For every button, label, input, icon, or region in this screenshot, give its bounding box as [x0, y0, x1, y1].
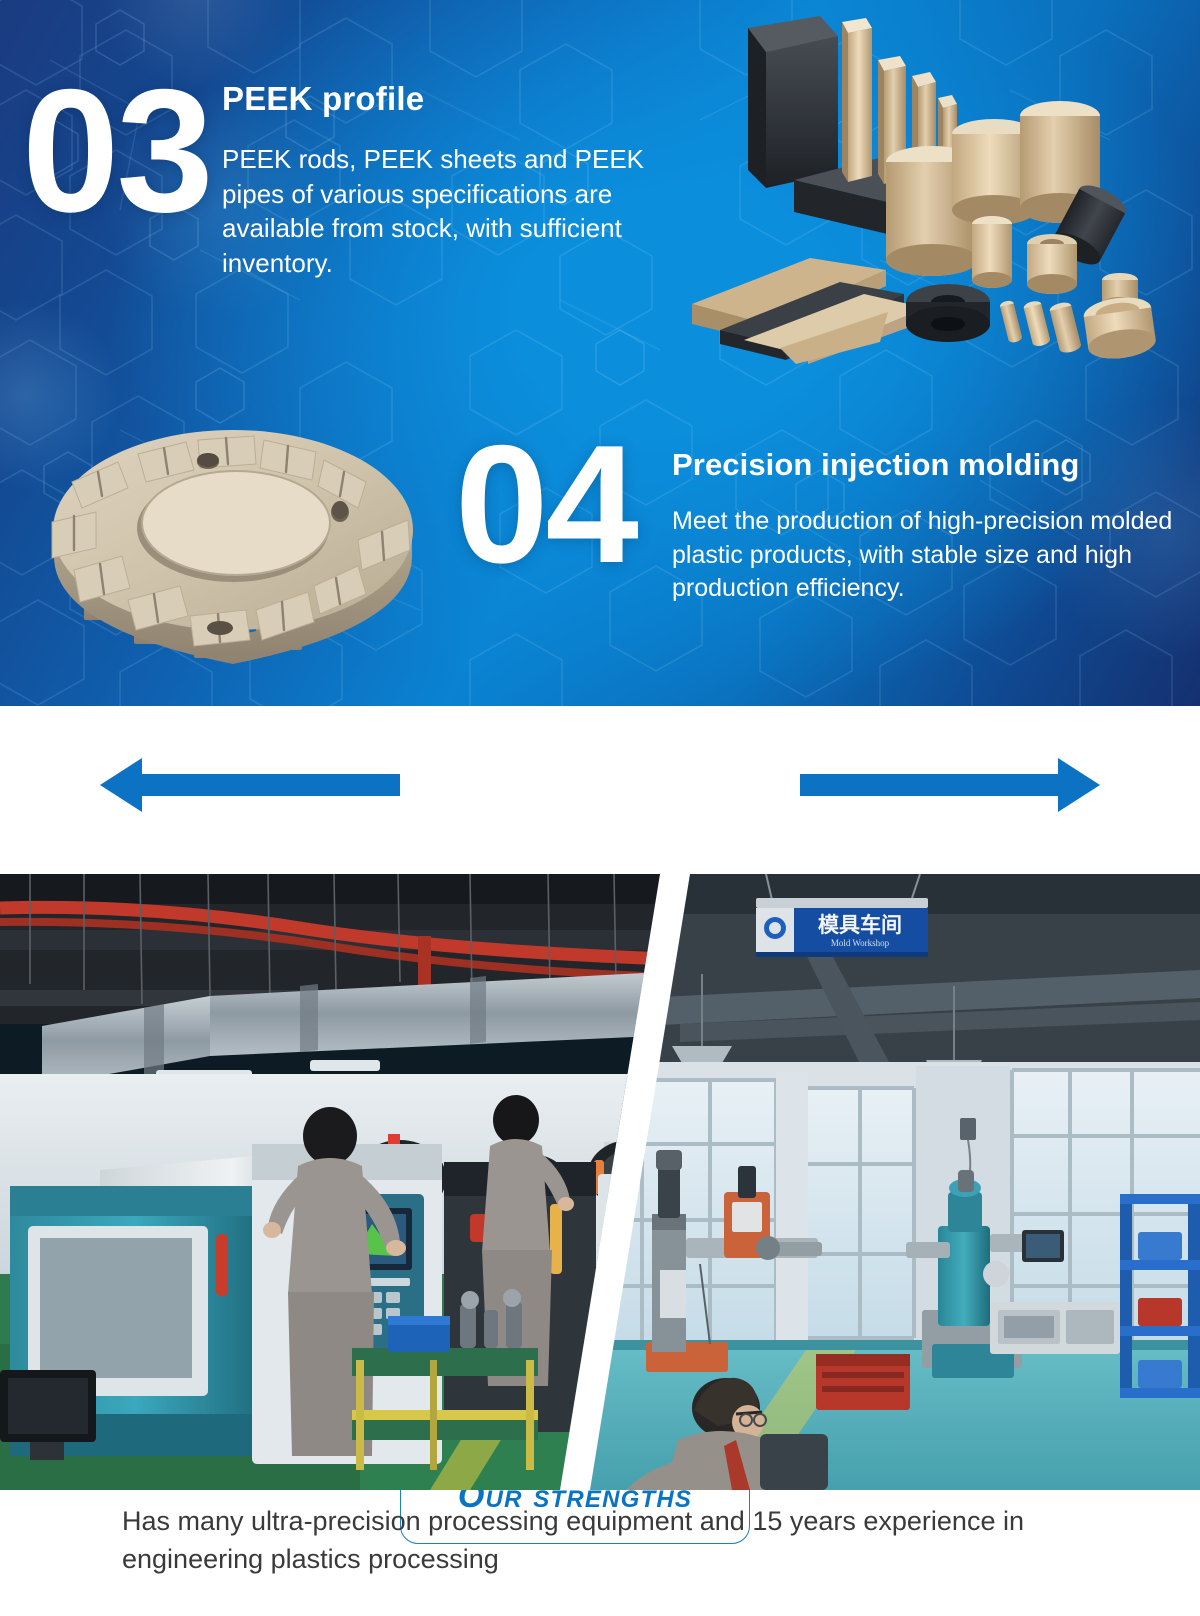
peek-gear-ring-photo: [18, 390, 448, 690]
block-body-04: Meet the production of high-precision mo…: [672, 505, 1192, 606]
block-number-03: 03: [22, 80, 211, 224]
bottom-caption: Has many ultra-precision processing equi…: [122, 1502, 1122, 1579]
workshop-photo-strip: 模具车间 Mold Workshop: [0, 874, 1200, 1490]
block-title-03: PEEK profile: [222, 80, 424, 118]
strengths-banner: Our strengths: [0, 706, 1200, 870]
double-arrow-icon: [100, 750, 1100, 820]
mold-workshop-photo: 模具车间 Mold Workshop: [560, 874, 1200, 1490]
peek-stock-shapes-photo: [690, 12, 1190, 364]
hero-section: 03 PEEK profile PEEK rods, PEEK sheets a…: [0, 0, 1200, 706]
block-body-03: PEEK rods, PEEK sheets and PEEK pipes of…: [222, 142, 662, 280]
block-number-04: 04: [455, 436, 636, 574]
block-title-04: Precision injection molding: [672, 447, 1079, 483]
